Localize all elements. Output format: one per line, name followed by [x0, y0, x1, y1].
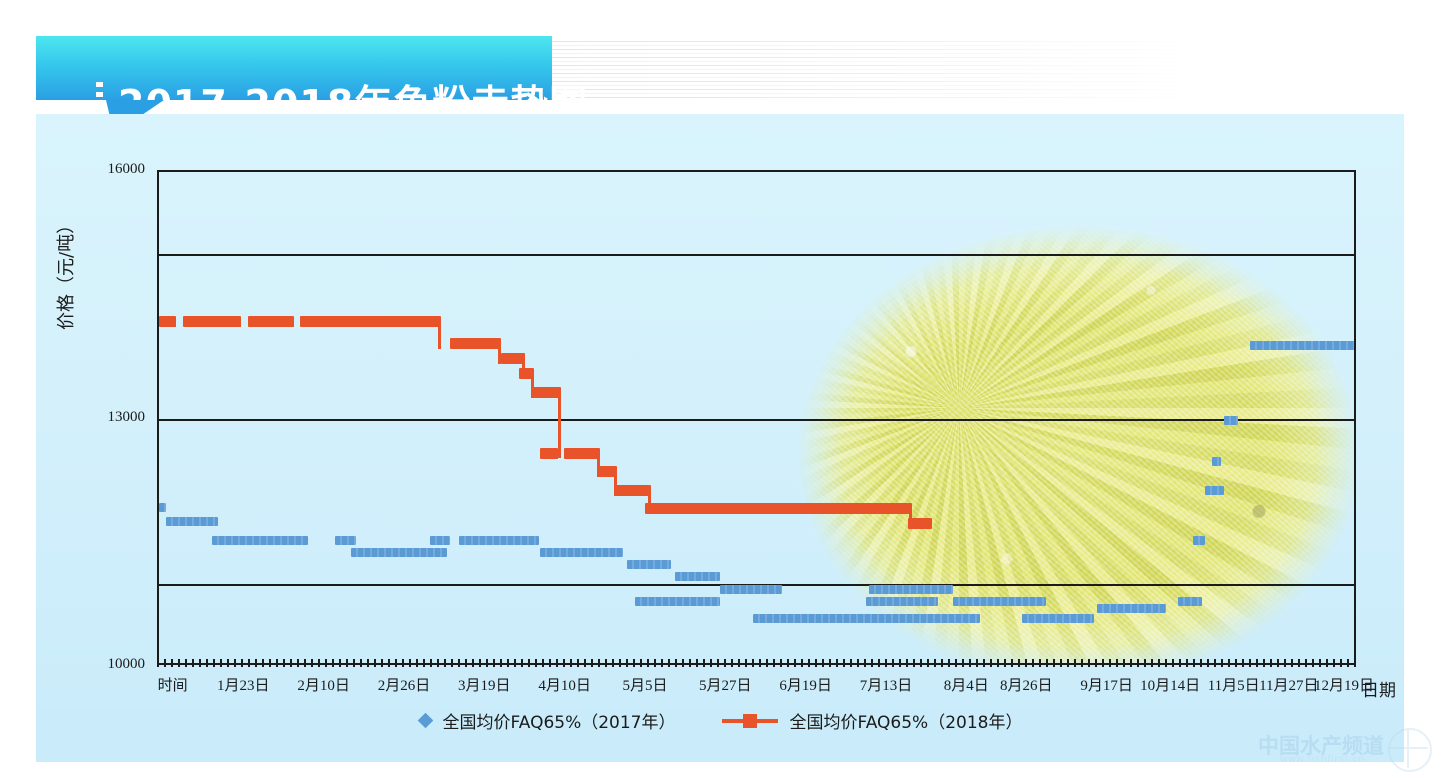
x-axis-tick-label: 11月5日	[1208, 674, 1260, 695]
y-axis-tick-label: 13000	[0, 409, 145, 426]
series-2017-segment	[159, 503, 166, 512]
x-axis-tick-label: 8月4日	[944, 674, 989, 695]
x-axis-tick-label: 2月10日	[297, 674, 350, 695]
series-2017-segment	[351, 548, 447, 557]
legend-item-2018[interactable]: 全国均价FAQ65%（2018年）	[722, 708, 1023, 733]
x-axis-tick-label: 4月10日	[538, 674, 591, 695]
x-axis-tick-label: 11月27日	[1259, 674, 1318, 695]
legend-item-2017[interactable]: 全国均价FAQ65%（2017年）	[420, 708, 676, 733]
x-axis-tick-label: 2月26日	[378, 674, 431, 695]
series-2017-segment	[1193, 536, 1205, 545]
series-2017-segment	[869, 585, 953, 594]
series-2017-segment	[166, 517, 218, 526]
series-2017-segment	[830, 614, 980, 623]
series-connector	[438, 321, 441, 349]
series-2017-segment	[1224, 416, 1238, 425]
series-2017-segment	[335, 536, 355, 545]
series-2017-segment	[675, 572, 721, 581]
series-2018-segment	[645, 503, 912, 514]
legend-label: 全国均价FAQ65%（2018年）	[790, 708, 1023, 733]
series-2017-segment	[1097, 604, 1167, 613]
series-2017-segment	[635, 597, 720, 606]
series-2017-segment	[953, 597, 1023, 606]
watermark-url: www.fishfirst.cn	[1280, 754, 1365, 765]
series-2017-segment	[1212, 457, 1222, 466]
title-banner: 2017-2018年鱼粉走势图	[36, 36, 552, 100]
series-2017-segment	[1178, 597, 1202, 606]
header-stripe-decoration	[548, 38, 1248, 100]
series-connector	[558, 392, 561, 458]
series-2017-segment	[430, 536, 450, 545]
series-2017-segment	[866, 597, 938, 606]
plot-area	[157, 170, 1356, 665]
x-axis-tick-label: 10月14日	[1140, 674, 1200, 695]
series-2017-segment	[212, 536, 308, 545]
diamond-marker-icon	[417, 713, 433, 729]
series-2017-segment	[1250, 341, 1356, 350]
series-2018-segment	[450, 338, 500, 349]
series-connector	[173, 321, 176, 327]
x-axis-tick-marks	[157, 659, 1356, 667]
x-axis-tick-label: 1月23日	[217, 674, 270, 695]
x-axis-tick-label: 6月19日	[779, 674, 832, 695]
series-2018-segment	[248, 316, 295, 327]
legend-label: 全国均价FAQ65%（2017年）	[443, 708, 676, 733]
series-connector	[555, 453, 558, 459]
series-2017-segment	[627, 560, 671, 569]
series-connector	[291, 321, 294, 327]
series-2017-segment	[720, 585, 782, 594]
series-2018-segment	[531, 387, 561, 398]
line-square-marker-icon	[722, 719, 778, 723]
x-axis-tick-label: 3月19日	[458, 674, 511, 695]
x-axis-tick-label: 7月13日	[860, 674, 913, 695]
x-axis-tick-label: 5月5日	[622, 674, 667, 695]
series-2017-segment	[1205, 486, 1224, 495]
series-2017-segment	[1022, 614, 1094, 623]
series-2018-segment	[300, 316, 440, 327]
x-axis-tick-label: 5月27日	[699, 674, 752, 695]
x-axis-tick-label: 时间	[158, 674, 188, 695]
series-2017-segment	[540, 548, 623, 557]
series-2018-segment	[183, 316, 241, 327]
x-axis-tick-label: 8月26日	[1000, 674, 1053, 695]
globe-icon	[1388, 728, 1432, 772]
series-2018-segment	[615, 485, 651, 496]
slide-root: 2017-2018年鱼粉走势图 100001300016000 价格（元/吨） …	[0, 0, 1442, 780]
series-2017-segment	[459, 536, 539, 545]
chart-legend: 全国均价FAQ65%（2017年） 全国均价FAQ65%（2018年）	[0, 708, 1442, 733]
y-axis-tick-label: 10000	[0, 656, 145, 673]
y-axis-title: 价格（元/吨）	[52, 216, 78, 330]
series-2018-segment	[564, 448, 600, 459]
series-2018-segment	[908, 518, 932, 529]
x-axis-tick-label: 9月17日	[1080, 674, 1133, 695]
y-axis-tick-label: 16000	[0, 161, 145, 178]
series-connector	[238, 321, 241, 327]
x-axis-title: 日期	[1362, 676, 1396, 701]
data-series-layer	[159, 172, 1354, 663]
watermark: 中国水产频道 www.fishfirst.cn	[1250, 728, 1430, 774]
